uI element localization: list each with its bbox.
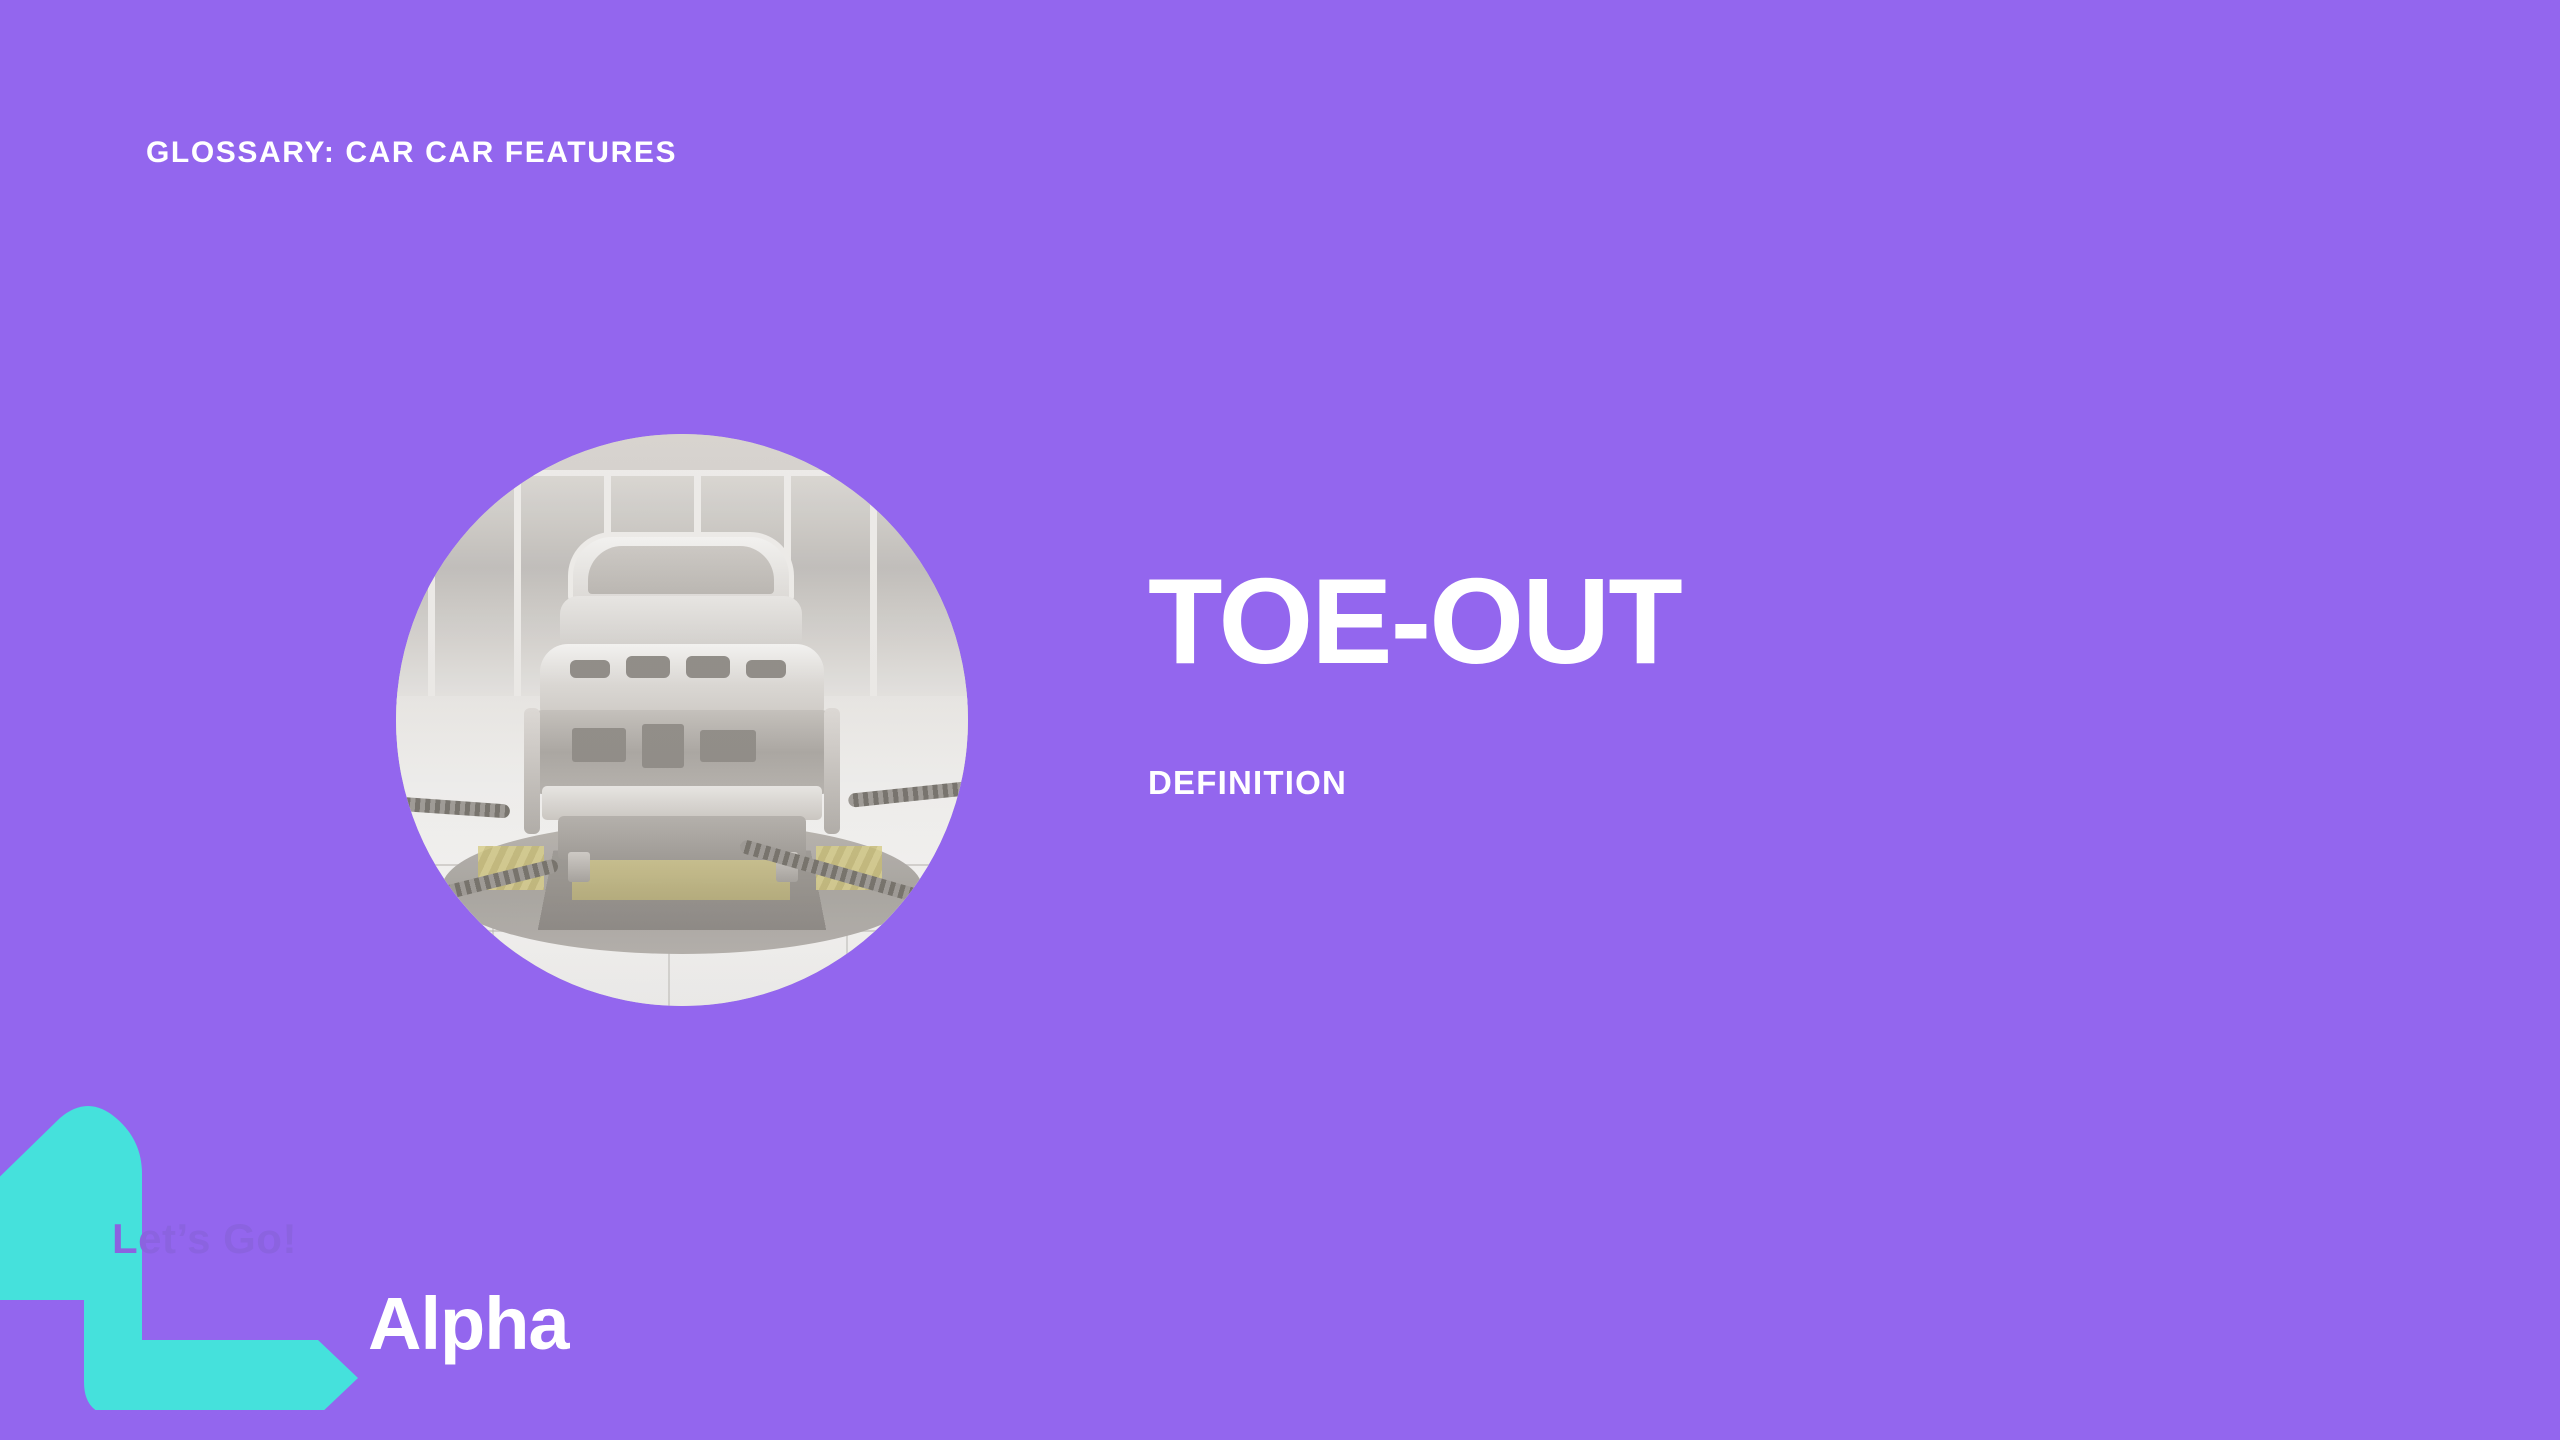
page-title: TOE-OUT bbox=[1148, 560, 1681, 682]
photo-mullion-h bbox=[396, 470, 968, 476]
photo-wheel-post bbox=[568, 852, 590, 882]
logo-wordmark: Alpha bbox=[368, 1287, 569, 1361]
logo-tagline: Let’s Go! bbox=[112, 1218, 297, 1260]
photo-hood-cut bbox=[686, 656, 730, 678]
photo-car-hood bbox=[540, 644, 824, 718]
page-subtitle: DEFINITION bbox=[1148, 766, 1347, 799]
photo-car-body bbox=[514, 532, 850, 872]
page-eyebrow: GLOSSARY: CAR CAR FEATURES bbox=[146, 138, 677, 168]
photo-car-crossmember bbox=[542, 786, 822, 820]
photo-car-strut bbox=[524, 708, 540, 834]
slide-canvas: GLOSSARY: CAR CAR FEATURES bbox=[0, 0, 2560, 1440]
photo-bay-detail bbox=[572, 728, 626, 762]
photo-mullion bbox=[870, 470, 877, 702]
photo-mullion bbox=[428, 470, 435, 702]
photo-car-roof-inner bbox=[588, 546, 774, 594]
photo-hood-cut bbox=[570, 660, 610, 678]
feature-photo-circle bbox=[396, 434, 968, 1006]
photo-hood-cut bbox=[626, 656, 670, 678]
photo-hood-cut bbox=[746, 660, 786, 678]
photo-car-strut bbox=[824, 708, 840, 834]
photo-bay-detail bbox=[642, 724, 684, 768]
photo-bay-detail bbox=[700, 730, 756, 762]
